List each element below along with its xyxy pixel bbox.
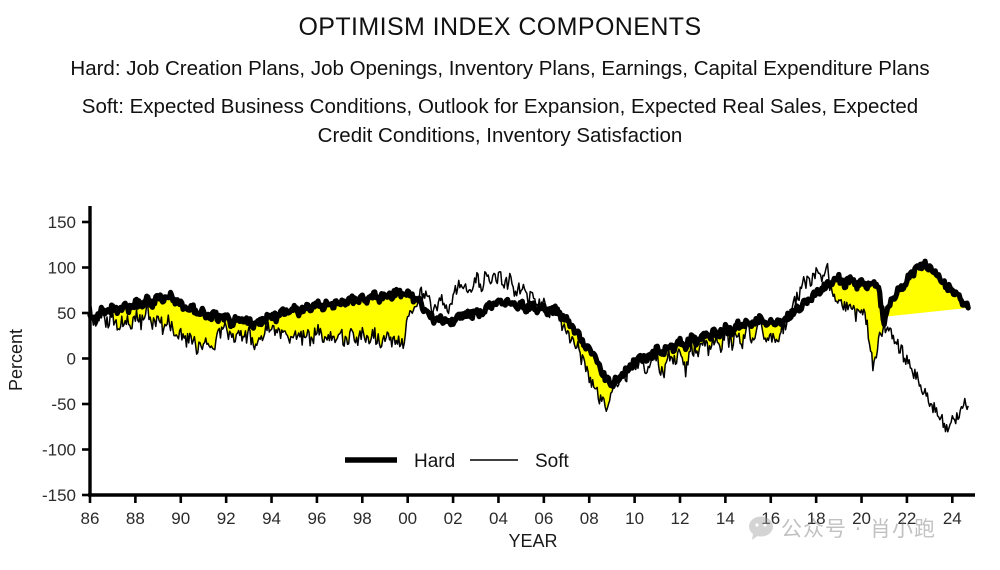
- y-tick-label: 150: [48, 213, 76, 232]
- x-tick-label: 22: [897, 509, 916, 528]
- x-tick-label: 24: [943, 509, 962, 528]
- x-tick-label: 00: [398, 509, 417, 528]
- soft-components-caption-line1: Soft: Expected Business Conditions, Outl…: [0, 93, 1000, 120]
- y-tick-label: 100: [48, 259, 76, 278]
- x-tick-label: 96: [307, 509, 326, 528]
- x-axis-title: YEAR: [508, 531, 557, 551]
- chart-axes: [82, 206, 975, 503]
- legend-soft-label: Soft: [535, 451, 570, 472]
- chart-figure: OPTIMISM INDEX COMPONENTS Hard: Job Crea…: [0, 0, 1000, 570]
- legend-hard-label: Hard: [414, 451, 455, 472]
- y-tick-label: 50: [57, 304, 76, 323]
- x-tick-label: 08: [580, 509, 599, 528]
- chart-header: OPTIMISM INDEX COMPONENTS Hard: Job Crea…: [0, 0, 1000, 149]
- x-tick-label: 98: [353, 509, 372, 528]
- x-tick-label: 88: [126, 509, 145, 528]
- y-tick-label: -150: [42, 486, 76, 505]
- plot-area: 150100500-50-100-150 8688909294969800020…: [0, 185, 1000, 570]
- x-tick-label: 14: [716, 509, 735, 528]
- x-tick-label: 02: [444, 509, 463, 528]
- y-tick-label: -50: [51, 395, 76, 414]
- x-tick-label: 10: [625, 509, 644, 528]
- x-tick-label: 06: [534, 509, 553, 528]
- line-chart-svg: 150100500-50-100-150 8688909294969800020…: [0, 185, 1000, 570]
- chart-legend: HardSoft: [345, 451, 570, 472]
- x-tick-label: 18: [807, 509, 826, 528]
- x-tick-label: 94: [262, 509, 281, 528]
- x-tick-label: 20: [852, 509, 871, 528]
- page-title: OPTIMISM INDEX COMPONENTS: [0, 12, 1000, 42]
- x-tick-label: 90: [171, 509, 190, 528]
- x-tick-label: 86: [81, 509, 100, 528]
- x-tick-label: 92: [217, 509, 236, 528]
- x-tick-label: 12: [671, 509, 690, 528]
- y-axis-tick-labels: 150100500-50-100-150: [42, 213, 76, 505]
- y-axis-title: Percent: [6, 329, 26, 391]
- x-tick-label: 16: [761, 509, 780, 528]
- y-tick-label: 0: [67, 350, 76, 369]
- y-tick-label: -100: [42, 441, 76, 460]
- hard-components-caption: Hard: Job Creation Plans, Job Openings, …: [0, 55, 1000, 82]
- soft-components-caption-line2: Credit Conditions, Inventory Satisfactio…: [0, 122, 1000, 149]
- x-axis-tick-labels: 8688909294969800020406081012141618202224: [81, 509, 962, 528]
- x-tick-label: 04: [489, 509, 508, 528]
